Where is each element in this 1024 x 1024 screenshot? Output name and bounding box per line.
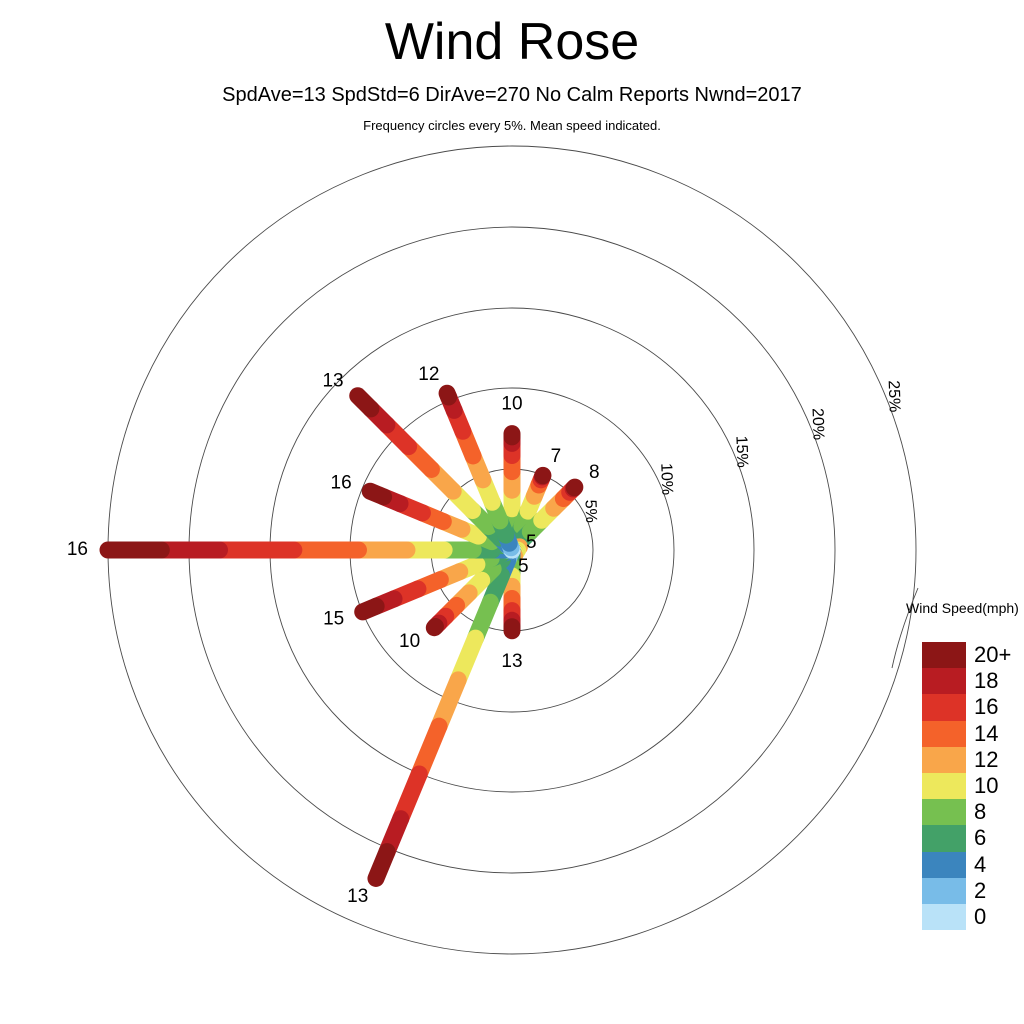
mean-speed-label-NNE: 7 [551, 446, 562, 467]
mean-speed-label-S: 13 [501, 651, 522, 672]
mean-speed-label-WSW: 15 [323, 608, 344, 629]
legend-swatch [922, 642, 966, 668]
ring-label-15: 15% [732, 435, 750, 468]
legend-label: 12 [974, 747, 998, 773]
ring-label-25: 25% [885, 380, 903, 413]
legend-row[interactable]: 12 [922, 747, 1024, 773]
legend: Wind Speed(mph) 20+181614121086420 [900, 600, 1024, 930]
legend-swatch [922, 878, 966, 904]
legend-row[interactable]: 4 [922, 852, 1024, 878]
legend-row[interactable]: 8 [922, 799, 1024, 825]
ring-label-20: 20% [809, 408, 827, 441]
legend-row[interactable]: 2 [922, 878, 1024, 904]
legend-swatch [922, 747, 966, 773]
legend-swatch [922, 825, 966, 851]
legend-label: 6 [974, 825, 986, 851]
legend-swatch [922, 799, 966, 825]
legend-row[interactable]: 14 [922, 721, 1024, 747]
petal-segment-SSW-20 [376, 852, 387, 879]
mean-speed-label-SW: 10 [399, 631, 420, 652]
ring-label-5: 5% [581, 499, 599, 523]
petal-segment-WSW-20 [363, 606, 376, 612]
legend-label: 18 [974, 668, 998, 694]
wind-rose-plot: 5%10%15%20%25% 1078131310151616131255 [0, 0, 1024, 1024]
legend-row[interactable]: 6 [922, 825, 1024, 851]
mean-speed-label-ESE: 5 [518, 556, 529, 577]
ring-label-10: 10% [657, 463, 675, 496]
legend-label: 10 [974, 773, 998, 799]
legend-row[interactable]: 0 [922, 904, 1024, 930]
petal-segment-NE-20 [574, 487, 575, 488]
petal-segment-NNW-20 [447, 393, 449, 397]
petal-segment-WNW-20 [370, 491, 383, 497]
petal-segment-SW-20 [434, 627, 435, 628]
legend-swatch [922, 721, 966, 747]
legend-label: 2 [974, 878, 986, 904]
legend-label: 0 [974, 904, 986, 930]
legend-title: Wind Speed(mph) [906, 600, 1024, 616]
legend-entries: 20+181614121086420 [922, 642, 1024, 930]
ring-percent-labels: 5%10%15%20%25% [581, 380, 902, 523]
mean-speed-label-N: 10 [501, 394, 522, 415]
wind-rose-page: Wind Rose SpdAve=13 SpdStd=6 DirAve=270 … [0, 0, 1024, 1024]
legend-label: 4 [974, 852, 986, 878]
legend-swatch [922, 773, 966, 799]
legend-label: 16 [974, 694, 998, 720]
mean-speed-label-ENE: 5 [526, 532, 537, 553]
mean-speed-label-NW: 13 [322, 371, 343, 392]
legend-label: 14 [974, 721, 998, 747]
petal-segment-NW-20 [358, 396, 371, 409]
mean-speed-label-WNW: 16 [331, 473, 352, 494]
legend-swatch [922, 904, 966, 930]
legend-swatch [922, 852, 966, 878]
mean-speed-label-NE: 8 [589, 462, 600, 483]
legend-label: 8 [974, 799, 986, 825]
legend-swatch [922, 694, 966, 720]
legend-label: 20+ [974, 642, 1011, 668]
legend-swatch [922, 668, 966, 694]
legend-row[interactable]: 10 [922, 773, 1024, 799]
legend-row[interactable]: 20+ [922, 642, 1024, 668]
legend-row[interactable]: 18 [922, 668, 1024, 694]
mean-speed-label-SSW: 13 [347, 886, 368, 907]
wind-petals [108, 393, 575, 878]
legend-row[interactable]: 16 [922, 694, 1024, 720]
mean-speed-label-W: 16 [67, 539, 88, 560]
mean-speed-label-NNW: 12 [418, 364, 439, 385]
